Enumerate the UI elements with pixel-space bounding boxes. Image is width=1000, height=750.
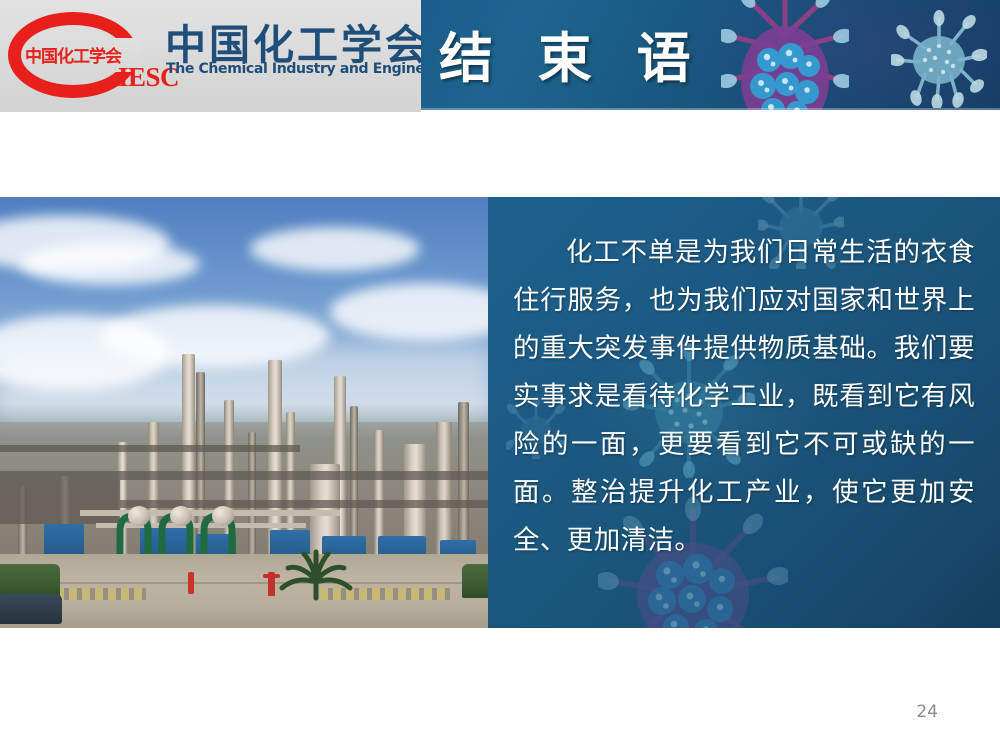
photo-heat-exchanger <box>212 506 234 526</box>
logo-band: 中国化工学会 IESC 中国化工学会 The Chemical Industry… <box>0 0 421 112</box>
photo-curb-barrier <box>56 588 146 600</box>
photo-fire-hydrant <box>268 572 275 596</box>
photo-car <box>0 594 62 624</box>
logo-emblem-text: 中国化工学会 <box>19 42 127 67</box>
photo-pipe-rack <box>0 445 300 452</box>
society-name-en: The Chemical Industry and Engineering So… <box>166 61 421 77</box>
slide: 中国化工学会 IESC 中国化工学会 The Chemical Industry… <box>0 0 1000 750</box>
photo-pipe-rack <box>0 471 488 480</box>
photo-hedge <box>0 564 60 598</box>
virus-blue-small-icon <box>891 8 987 108</box>
photo-cloud <box>250 227 420 271</box>
photo-haze <box>0 347 488 417</box>
photo-palm-tree <box>276 540 356 602</box>
virus-purple-large-icon <box>721 0 849 110</box>
page-number: 24 <box>916 702 938 722</box>
photo-heat-exchanger <box>128 506 150 526</box>
photo-hedge <box>462 564 488 598</box>
header-title-band: 结 束 语 <box>421 0 1000 110</box>
photo-cloud <box>20 243 200 285</box>
photo-ground-seam <box>0 582 488 584</box>
page-title: 结 束 语 <box>439 14 704 93</box>
text-panel: 化工不单是为我们日常生活的衣食住行服务，也为我们应对国家和世界上的重大突发事件提… <box>488 197 1000 628</box>
photo-steel-structure <box>0 480 120 524</box>
slide-header: 中国化工学会 IESC 中国化工学会 The Chemical Industry… <box>0 0 1000 112</box>
refinery-photo <box>0 197 488 628</box>
photo-worker <box>188 572 194 594</box>
photo-cloud <box>330 283 488 341</box>
photo-heat-exchanger <box>170 506 192 526</box>
closing-paragraph: 化工不单是为我们日常生活的衣食住行服务，也为我们应对国家和世界上的重大突发事件提… <box>513 229 975 565</box>
